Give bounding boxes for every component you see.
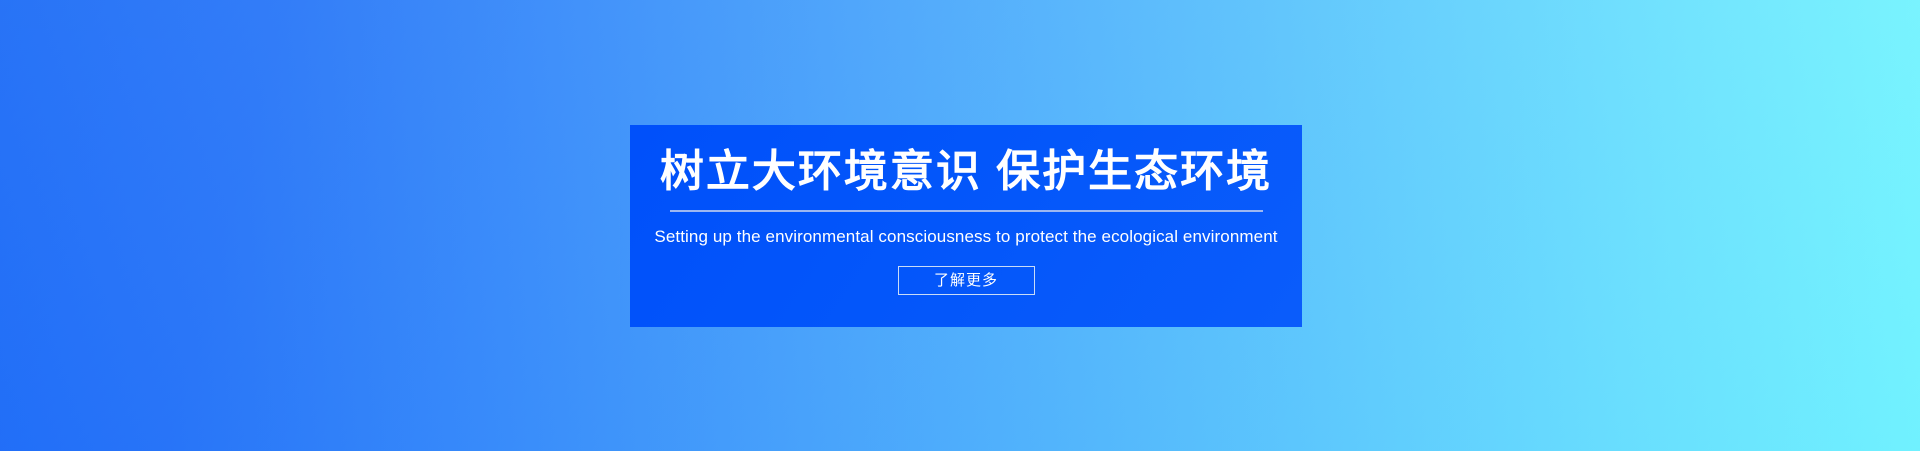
content-panel: 树立大环境意识 保护生态环境 Setting up the environmen… — [630, 125, 1302, 327]
subtitle-text: Setting up the environmental consciousne… — [654, 212, 1277, 247]
title-divider — [670, 210, 1263, 212]
learn-more-button[interactable]: 了解更多 — [898, 266, 1035, 295]
hero-banner: 树立大环境意识 保护生态环境 Setting up the environmen… — [0, 0, 1920, 451]
page-title: 树立大环境意识 保护生态环境 — [660, 125, 1272, 196]
